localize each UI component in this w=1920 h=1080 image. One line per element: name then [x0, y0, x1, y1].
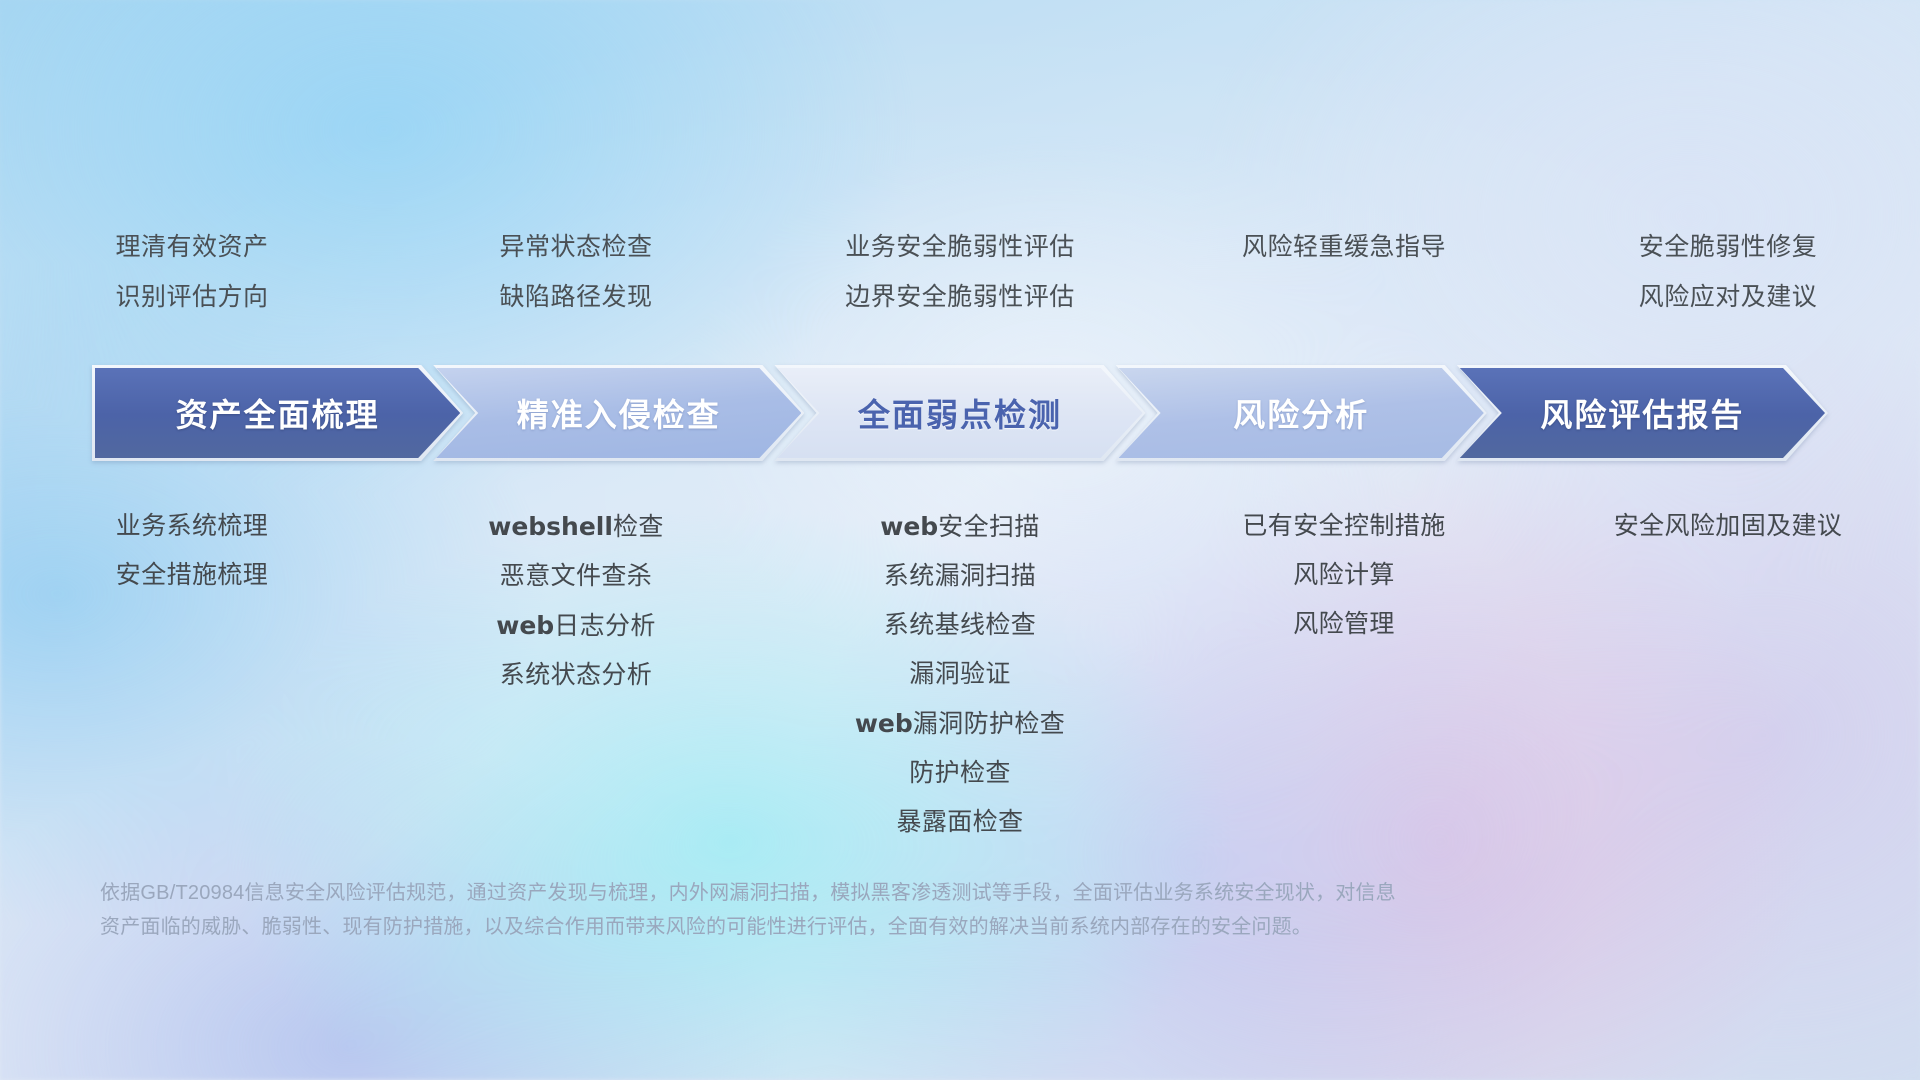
- stage-chevron-weakness-detection[interactable]: 全面弱点检测: [774, 365, 1145, 461]
- task-item: 业务系统梳理: [116, 502, 268, 551]
- task-label: 安全扫描: [938, 513, 1040, 541]
- task-label: 安全措施梳理: [116, 561, 268, 589]
- stage-tasks-asset-inventory: 业务系统梳理安全措施梳理: [0, 502, 384, 600]
- task-item: 恶意文件查杀: [500, 552, 652, 601]
- stage-tasks-weakness-detection: web安全扫描系统漏洞扫描系统基线检查漏洞验证web漏洞防护检查防护检查暴露面检…: [768, 502, 1152, 847]
- task-label: 漏洞防护检查: [913, 710, 1065, 738]
- outcome-item: 风险应对及建议: [1639, 272, 1818, 322]
- outcome-item: 业务安全脆弱性评估: [845, 222, 1075, 272]
- task-item: 漏洞验证: [909, 650, 1011, 699]
- task-label: 日志分析: [554, 612, 656, 640]
- outcome-item: 边界安全脆弱性评估: [845, 272, 1075, 322]
- outcome-item: 缺陷路径发现: [499, 272, 652, 322]
- task-latin-prefix: web: [496, 611, 554, 640]
- task-item: 风险计算: [1293, 551, 1395, 600]
- stage-chevron-asset-inventory[interactable]: 资产全面梳理: [92, 365, 463, 461]
- stage-outcomes-risk-analysis: 风险轻重缓急指导: [1152, 222, 1536, 332]
- task-latin-prefix: webshell: [488, 512, 613, 541]
- stage-title: 精准入侵检查: [517, 390, 721, 436]
- stage-outcomes-asset-inventory: 理清有效资产识别评估方向: [0, 222, 384, 332]
- stage-title: 资产全面梳理: [176, 390, 380, 436]
- footer-line-1: 依据GB/T20984信息安全风险评估规范，通过资产发现与梳理，内外网漏洞扫描，…: [100, 876, 1640, 910]
- task-label: 漏洞验证: [909, 660, 1011, 688]
- stage-outcomes-weakness-detection: 业务安全脆弱性评估边界安全脆弱性评估: [768, 222, 1152, 332]
- task-label: 检查: [613, 513, 664, 541]
- process-flow-diagram: 理清有效资产识别评估方向异常状态检查缺陷路径发现业务安全脆弱性评估边界安全脆弱性…: [0, 0, 1920, 1080]
- stage-tasks-risk-analysis: 已有安全控制措施风险计算风险管理: [1152, 502, 1536, 649]
- stage-outcomes-risk-report: 安全脆弱性修复风险应对及建议: [1536, 222, 1920, 332]
- task-latin-prefix: web: [880, 512, 938, 541]
- task-item: 系统漏洞扫描: [884, 552, 1036, 601]
- task-item: webshell检查: [488, 502, 664, 552]
- stage-title: 风险分析: [1233, 390, 1369, 436]
- outcome-item: 安全脆弱性修复: [1639, 222, 1818, 272]
- stage-chevron-risk-report[interactable]: 风险评估报告: [1457, 365, 1828, 461]
- task-label: 系统基线检查: [884, 611, 1036, 639]
- task-label: 业务系统梳理: [116, 512, 268, 540]
- task-item: 安全风险加固及建议: [1614, 502, 1843, 551]
- task-label: 暴露面检查: [896, 808, 1023, 836]
- task-label: 系统状态分析: [500, 661, 652, 689]
- task-item: 已有安全控制措施: [1242, 502, 1445, 551]
- stage-title: 全面弱点检测: [858, 390, 1062, 436]
- task-item: 防护检查: [909, 749, 1011, 798]
- footer-description: 依据GB/T20984信息安全风险评估规范，通过资产发现与梳理，内外网漏洞扫描，…: [100, 876, 1640, 944]
- outcome-item: 识别评估方向: [115, 272, 268, 322]
- task-latin-prefix: web: [855, 709, 913, 738]
- stage-chevron-intrusion-check[interactable]: 精准入侵检查: [433, 365, 804, 461]
- task-label: 风险管理: [1293, 610, 1395, 638]
- stage-chevron-band: 资产全面梳理精准入侵检查全面弱点检测风险分析风险评估报告: [92, 365, 1828, 461]
- outcome-item: 风险轻重缓急指导: [1242, 222, 1446, 272]
- task-label: 安全风险加固及建议: [1614, 512, 1843, 540]
- task-item: 风险管理: [1293, 600, 1395, 649]
- task-label: 已有安全控制措施: [1242, 512, 1445, 540]
- task-label: 恶意文件查杀: [500, 562, 652, 590]
- stage-title: 风险评估报告: [1540, 390, 1744, 436]
- stage-tasks-risk-report: 安全风险加固及建议: [1536, 502, 1920, 551]
- task-item: 暴露面检查: [896, 798, 1023, 847]
- stage-outcomes-row: 理清有效资产识别评估方向异常状态检查缺陷路径发现业务安全脆弱性评估边界安全脆弱性…: [0, 222, 1920, 332]
- task-item: web漏洞防护检查: [855, 699, 1065, 749]
- stage-tasks-intrusion-check: webshell检查恶意文件查杀web日志分析系统状态分析: [384, 502, 768, 700]
- task-item: web日志分析: [496, 601, 656, 651]
- task-item: 安全措施梳理: [116, 551, 268, 600]
- task-item: web安全扫描: [880, 502, 1040, 552]
- footer-line-2: 资产面临的威胁、脆弱性、现有防护措施，以及综合作用而带来风险的可能性进行评估，全…: [100, 910, 1640, 944]
- task-item: 系统基线检查: [884, 601, 1036, 650]
- outcome-item: 理清有效资产: [115, 222, 268, 272]
- outcome-item: 异常状态检查: [499, 222, 652, 272]
- task-label: 系统漏洞扫描: [884, 562, 1036, 590]
- task-item: 系统状态分析: [500, 651, 652, 700]
- stage-tasks-row: 业务系统梳理安全措施梳理webshell检查恶意文件查杀web日志分析系统状态分…: [0, 502, 1920, 847]
- stage-chevron-risk-analysis[interactable]: 风险分析: [1116, 365, 1487, 461]
- task-label: 风险计算: [1293, 561, 1395, 589]
- stage-outcomes-intrusion-check: 异常状态检查缺陷路径发现: [384, 222, 768, 332]
- task-label: 防护检查: [909, 759, 1011, 787]
